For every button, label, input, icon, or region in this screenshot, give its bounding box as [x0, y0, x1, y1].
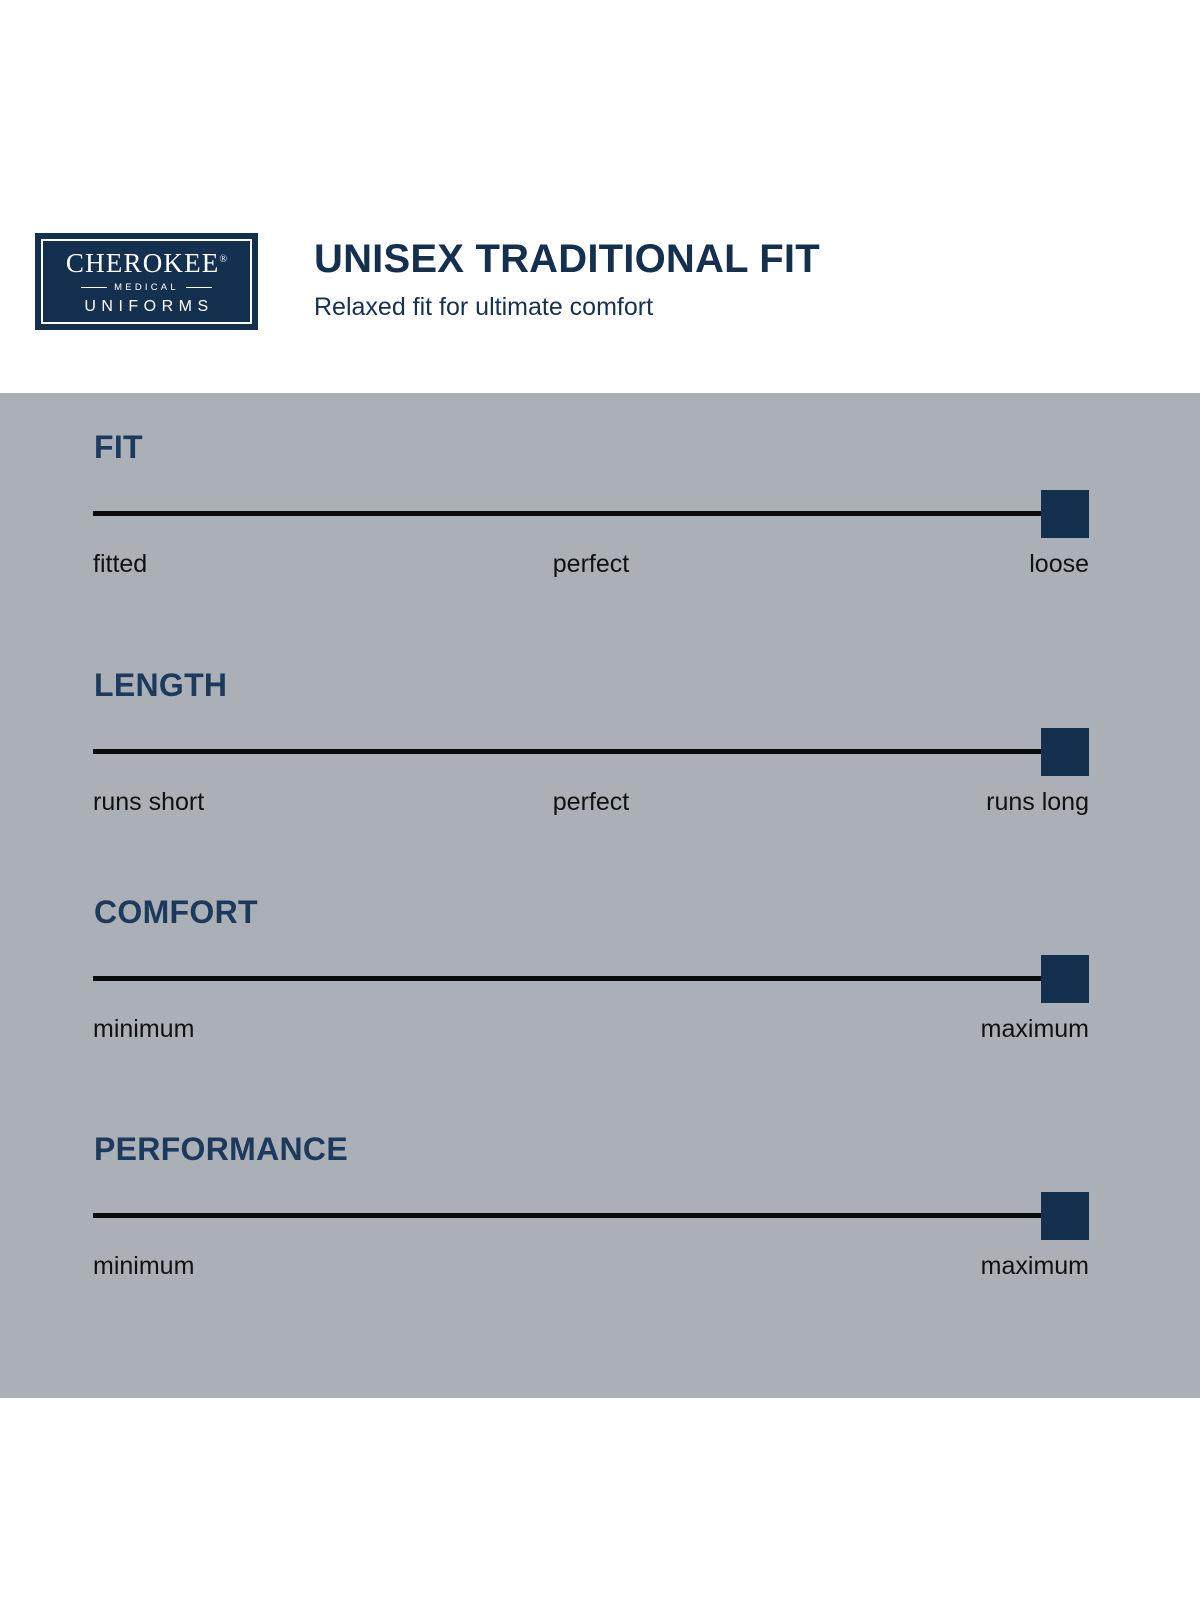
cherokee-logo: CHEROKEE® MEDICAL UNIFORMS [35, 233, 258, 330]
scale-label-center: perfect [93, 787, 1089, 817]
attribute-heading: FIT [94, 431, 1089, 463]
scale-labels: runs short perfect runs long [93, 787, 1089, 821]
slider-track [93, 749, 1063, 754]
fit-slider[interactable] [93, 490, 1089, 538]
logo-brand-text: CHEROKEE [66, 248, 220, 278]
attribute-performance: PERFORMANCE minimum maximum [93, 1133, 1089, 1285]
slider-marker[interactable] [1041, 1192, 1089, 1240]
length-slider[interactable] [93, 728, 1089, 776]
slider-track [93, 976, 1063, 981]
logo-uniforms-text: UNIFORMS [84, 299, 213, 315]
slider-marker[interactable] [1041, 955, 1089, 1003]
page-header: CHEROKEE® MEDICAL UNIFORMS UNISEX TRADIT… [0, 0, 1200, 393]
logo-medical-text: MEDICAL [114, 283, 179, 293]
slider-track [93, 1213, 1063, 1218]
comfort-slider[interactable] [93, 955, 1089, 1003]
scale-label-left: minimum [93, 1251, 194, 1281]
performance-slider[interactable] [93, 1192, 1089, 1240]
logo-medical-row: MEDICAL [43, 283, 250, 293]
title-block: UNISEX TRADITIONAL FIT Relaxed fit for u… [314, 238, 820, 322]
attribute-comfort: COMFORT minimum maximum [93, 896, 1089, 1048]
scale-label-right: loose [1029, 549, 1089, 579]
page-title: UNISEX TRADITIONAL FIT [314, 238, 820, 280]
scale-label-right: maximum [981, 1014, 1089, 1044]
attribute-heading: COMFORT [94, 896, 1089, 928]
slider-marker[interactable] [1041, 490, 1089, 538]
scale-label-right: runs long [986, 787, 1089, 817]
attributes-panel: FIT fitted perfect loose LENGTH [0, 393, 1200, 1398]
scale-label-right: maximum [981, 1251, 1089, 1281]
scale-label-left: minimum [93, 1014, 194, 1044]
logo-rule-left-icon [81, 287, 107, 289]
fit-guide-page: CHEROKEE® MEDICAL UNIFORMS UNISEX TRADIT… [0, 0, 1200, 1600]
registered-trademark-icon: ® [219, 254, 227, 265]
slider-track [93, 511, 1063, 516]
logo-inner-frame: CHEROKEE® MEDICAL UNIFORMS [41, 239, 252, 324]
page-subtitle: Relaxed fit for ultimate comfort [314, 294, 820, 322]
attribute-heading: PERFORMANCE [94, 1133, 1089, 1165]
scale-label-center: perfect [93, 549, 1089, 579]
attribute-heading: LENGTH [94, 669, 1089, 701]
attribute-fit: FIT fitted perfect loose [93, 431, 1089, 583]
scale-labels: fitted perfect loose [93, 549, 1089, 583]
scale-labels: minimum maximum [93, 1251, 1089, 1285]
logo-rule-right-icon [186, 287, 212, 289]
attribute-length: LENGTH runs short perfect runs long [93, 669, 1089, 821]
scale-labels: minimum maximum [93, 1014, 1089, 1048]
logo-brand-name: CHEROKEE® [66, 250, 227, 277]
slider-marker[interactable] [1041, 728, 1089, 776]
